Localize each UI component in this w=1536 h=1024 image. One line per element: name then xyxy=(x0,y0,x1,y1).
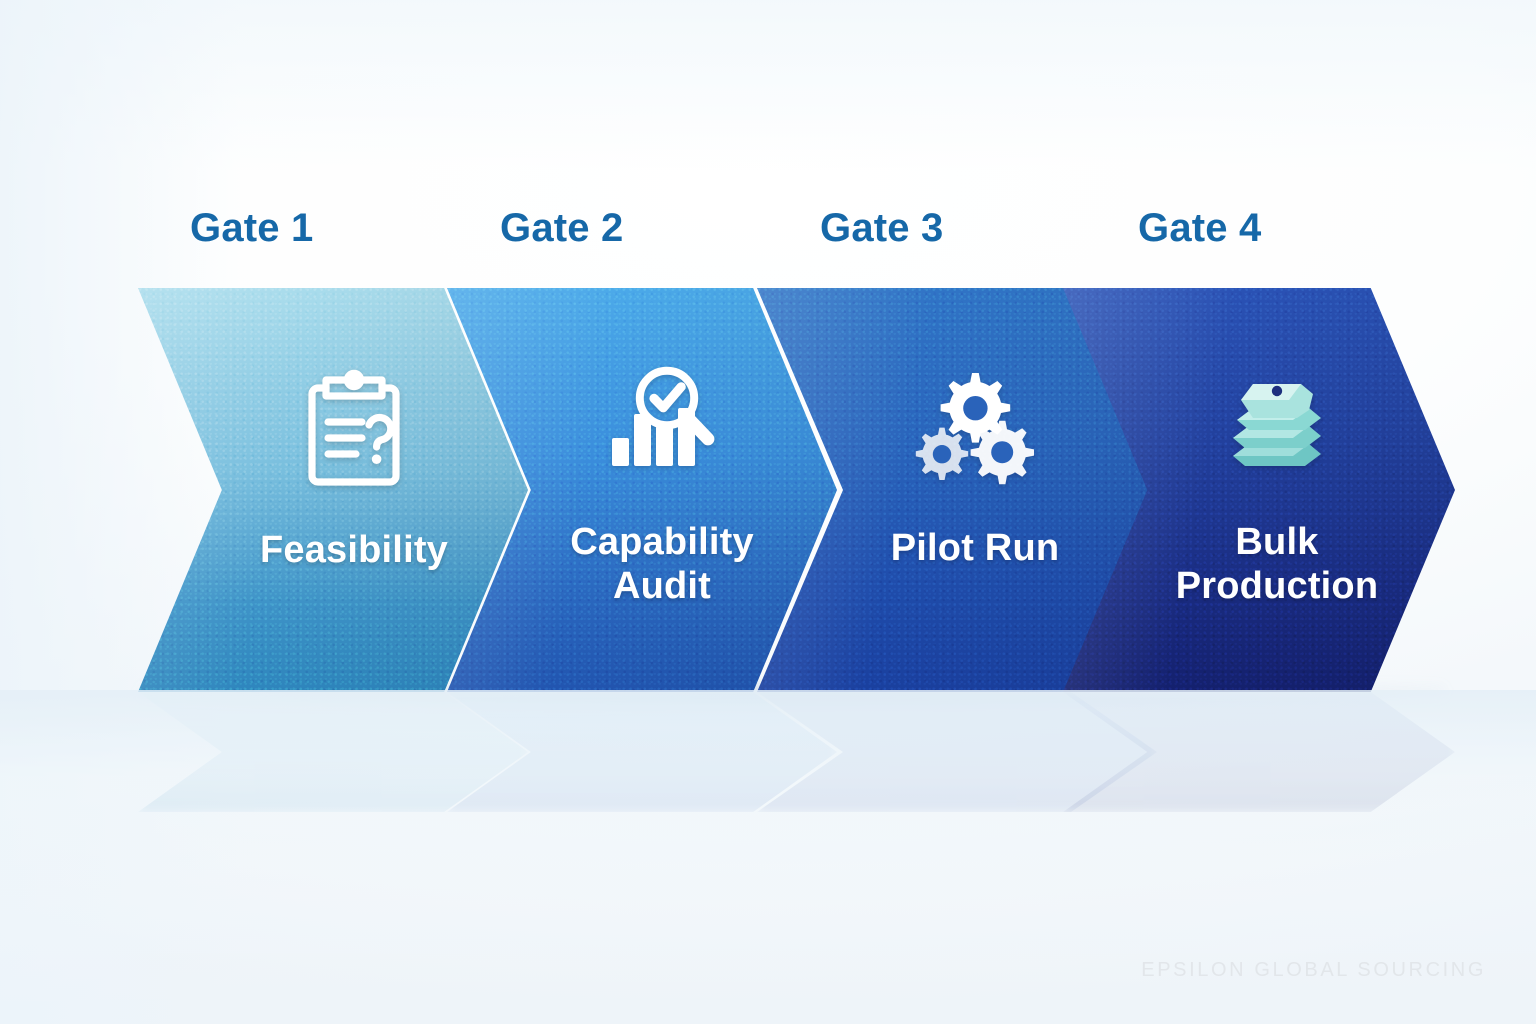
stage-1-content: Feasibility xyxy=(138,288,528,692)
stage-chevron-1[interactable]: Feasibility xyxy=(138,288,528,692)
magnifier-check-barchart-icon xyxy=(598,358,726,486)
watermark-text: EPSILON GLOBAL SOURCING xyxy=(1141,959,1486,982)
diagram-canvas: Gate 1 Gate 2 Gate 3 Gate 4 xyxy=(0,0,1536,1024)
stage-3-title: Pilot Run xyxy=(891,526,1060,570)
stage-2-title: Capability Audit xyxy=(570,520,754,609)
stage-1-title: Feasibility xyxy=(260,528,448,572)
gears-icon xyxy=(911,364,1039,492)
stacked-layers-icon xyxy=(1213,358,1341,486)
gate-flow: Feasibility xyxy=(0,0,1536,1024)
stage-4-title: Bulk Production xyxy=(1176,520,1379,609)
clipboard-question-icon xyxy=(290,366,418,494)
